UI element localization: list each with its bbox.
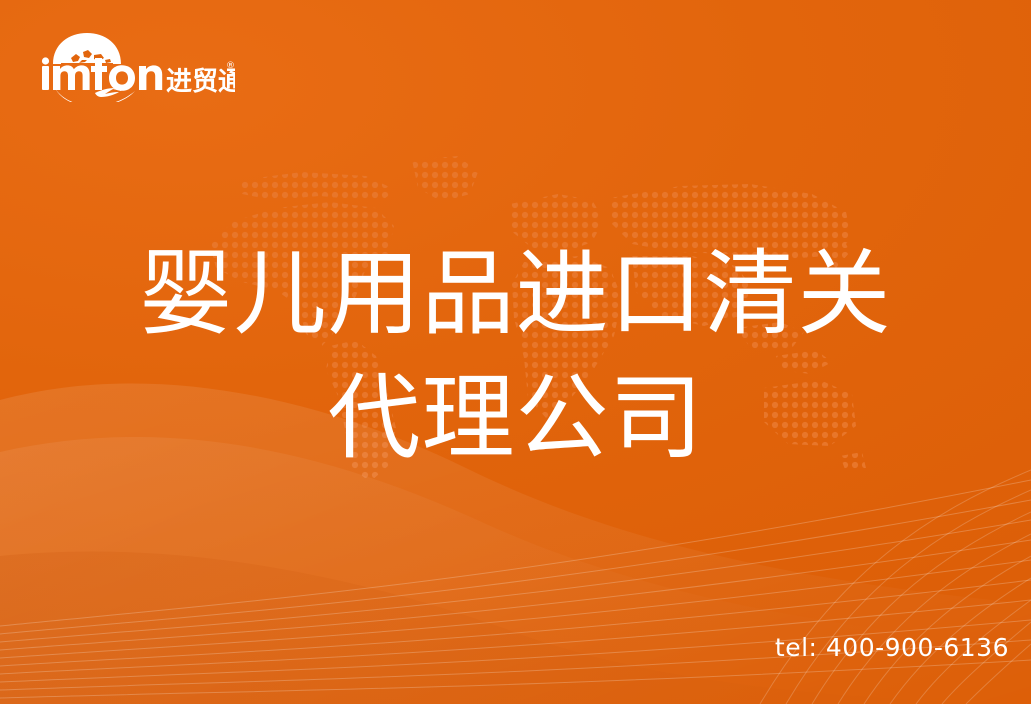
page-title-line-2: 代理公司 — [0, 356, 1031, 480]
brand-logo[interactable]: 进贸通 ® — [35, 30, 235, 102]
logo-chinese-name: 进贸通 — [166, 67, 235, 97]
page-title: 婴儿用品进口清关 代理公司 — [0, 232, 1031, 480]
trademark-symbol: ® — [226, 61, 235, 71]
promo-banner: 进贸通 ® 婴儿用品进口清关 代理公司 tel: 400-900-6136 — [0, 0, 1031, 704]
contact-phone: tel: 400-900-6136 — [775, 633, 1009, 662]
globe-dome-icon — [53, 33, 121, 64]
page-title-line-1: 婴儿用品进口清关 — [0, 232, 1031, 356]
